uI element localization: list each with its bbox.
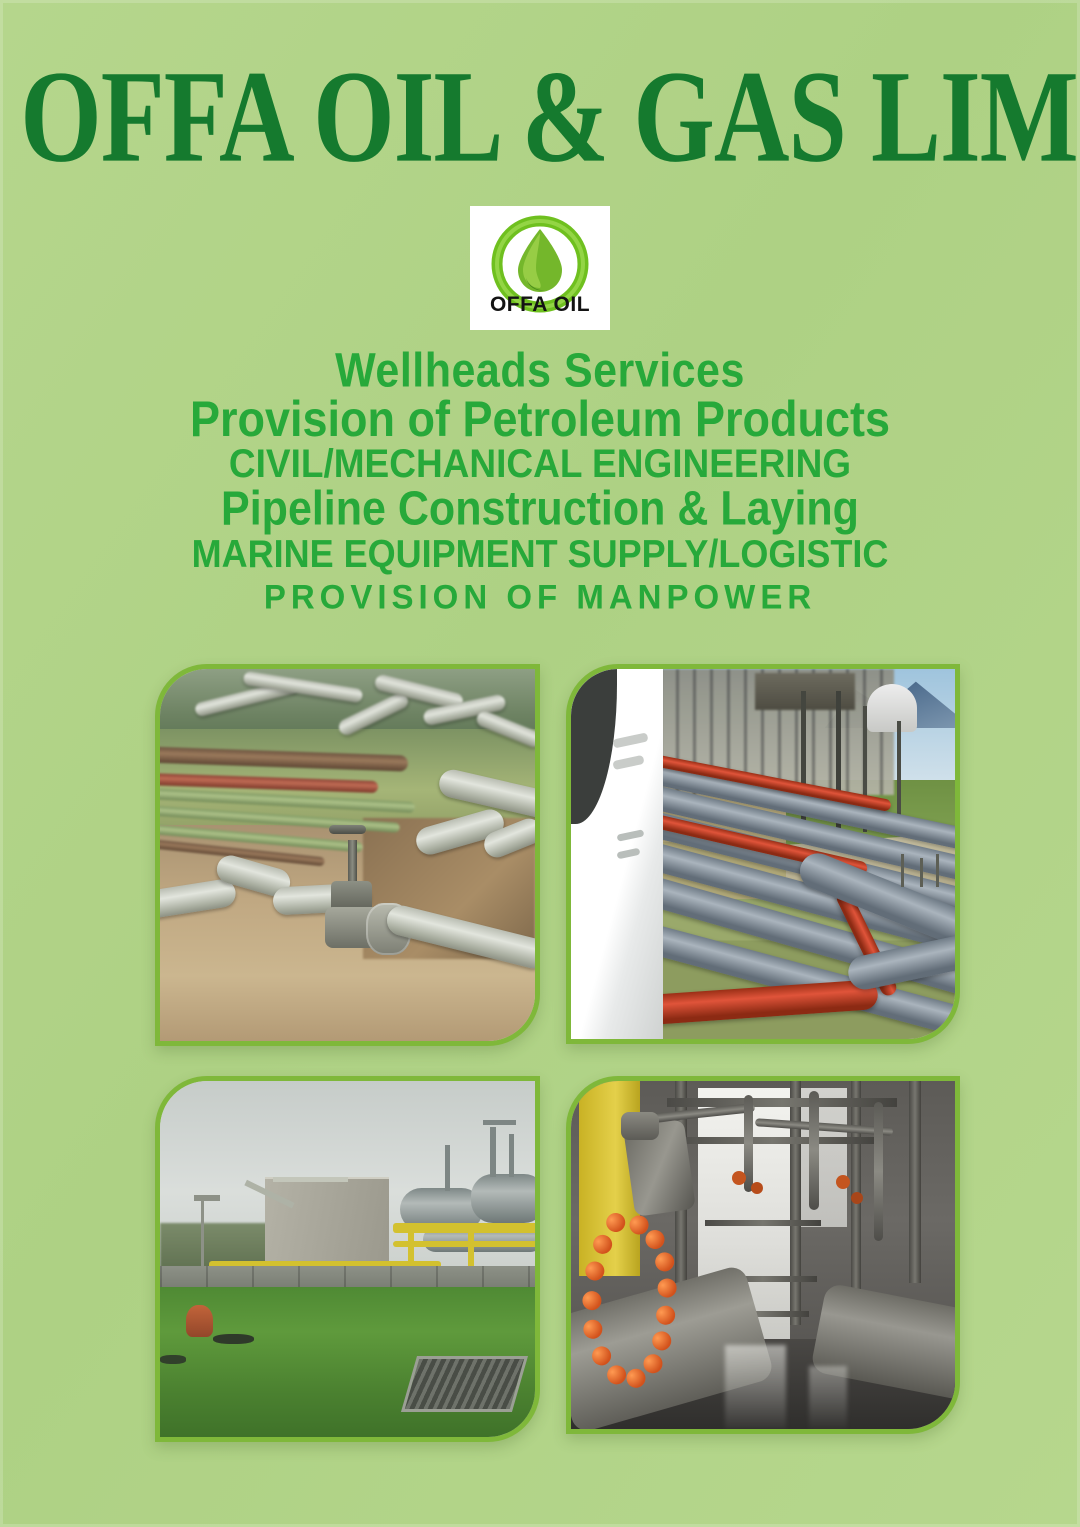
photo-process-plant-interior-scene bbox=[571, 1081, 955, 1429]
services-list: Wellheads Services Provision of Petroleu… bbox=[0, 348, 1080, 619]
logo-wordmark: OFFA OIL bbox=[490, 293, 590, 316]
service-item-manpower: PROVISION OF MANPOWER bbox=[0, 574, 1080, 620]
photo-flow-station bbox=[155, 1076, 540, 1442]
service-item-pipeline: Pipeline Construction & Laying bbox=[0, 482, 1080, 536]
page-title: OFFA OIL & GAS LIMITED bbox=[20, 52, 1080, 184]
logo-mark-icon: OFFA OIL bbox=[481, 212, 599, 324]
service-item-civil-mechanical: CIVIL/MECHANICAL ENGINEERING bbox=[0, 441, 1080, 486]
photo-process-plant-interior bbox=[566, 1076, 960, 1434]
page-title-wrap: OFFA OIL & GAS LIMITED bbox=[0, 52, 1080, 160]
poster-page: OFFA OIL & GAS LIMITED OFFA OIL Wellhead… bbox=[0, 0, 1080, 1527]
service-item-marine: MARINE EQUIPMENT SUPPLY/LOGISTIC bbox=[0, 531, 1080, 576]
photo-pipe-rack bbox=[566, 664, 960, 1044]
photo-flow-station-scene bbox=[160, 1081, 535, 1437]
photo-pipeline-wellhead-scene bbox=[160, 669, 535, 1041]
offa-oil-logo: OFFA OIL bbox=[470, 206, 610, 330]
photo-pipe-rack-scene bbox=[571, 669, 955, 1039]
photo-pipeline-wellhead bbox=[155, 664, 540, 1046]
service-item-petroleum: Provision of Petroleum Products bbox=[0, 392, 1080, 446]
